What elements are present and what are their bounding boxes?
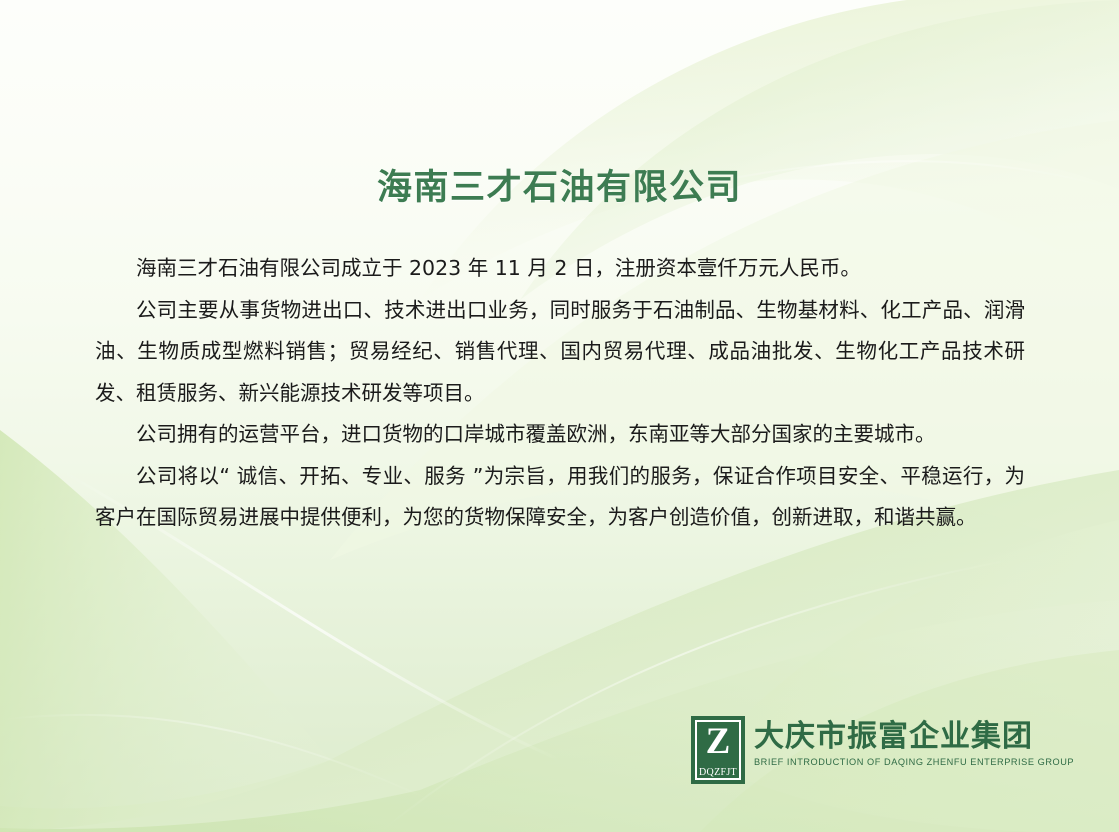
logo-name-english: BRIEF INTRODUCTION OF DAQING ZHENFU ENTE…	[754, 757, 1074, 767]
slide-content: 海南三才石油有限公司 海南三才石油有限公司成立于 2023 年 11 月 2 日…	[0, 0, 1119, 832]
logo-mark-icon: Z DQZFJT	[691, 716, 745, 784]
slide-canvas: 海南三才石油有限公司 海南三才石油有限公司成立于 2023 年 11 月 2 日…	[0, 0, 1119, 832]
logo-name-chinese: 大庆市振富企业集团	[754, 720, 1074, 754]
page-title: 海南三才石油有限公司	[0, 159, 1119, 210]
company-logo: Z DQZFJT 大庆市振富企业集团 BRIEF INTRODUCTION OF…	[691, 716, 1074, 784]
body-copy: 海南三才石油有限公司成立于 2023 年 11 月 2 日，注册资本壹仟万元人民…	[95, 248, 1025, 539]
logo-letter-z: Z	[691, 722, 745, 762]
paragraph-4: 公司将以“ 诚信、开拓、专业、服务 ”为宗旨，用我们的服务，保证合作项目安全、平…	[95, 456, 1025, 539]
paragraph-3: 公司拥有的运营平台，进口货物的口岸城市覆盖欧洲，东南亚等大部分国家的主要城市。	[95, 414, 1025, 456]
logo-wordmark: 大庆市振富企业集团 BRIEF INTRODUCTION OF DAQING Z…	[754, 716, 1074, 767]
logo-abbreviation: DQZFJT	[691, 767, 745, 778]
paragraph-2: 公司主要从事货物进出口、技术进出口业务，同时服务于石油制品、生物基材料、化工产品…	[95, 290, 1025, 415]
paragraph-1: 海南三才石油有限公司成立于 2023 年 11 月 2 日，注册资本壹仟万元人民…	[95, 248, 1025, 290]
